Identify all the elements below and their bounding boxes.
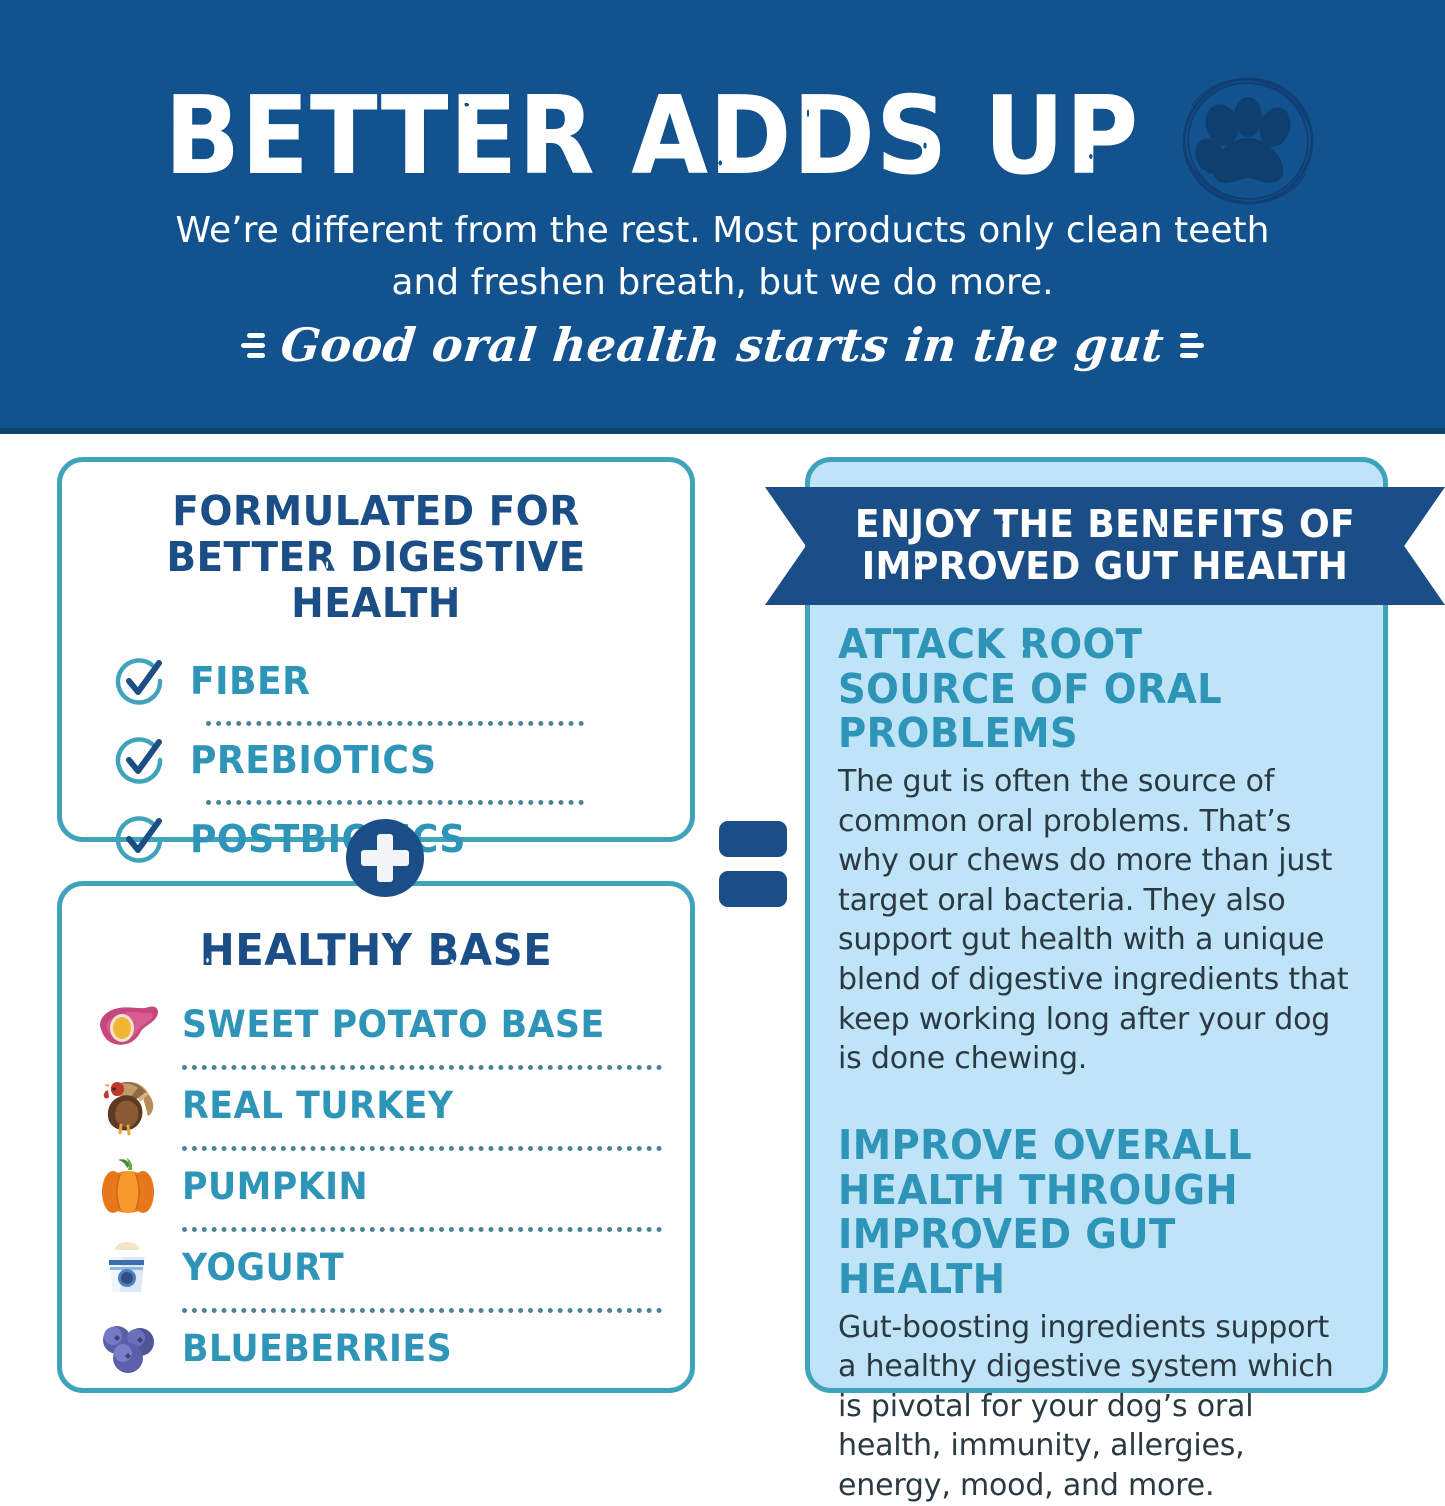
list-item: PUMPKIN bbox=[92, 1151, 656, 1221]
list-item: REAL TURKEY bbox=[92, 1070, 656, 1140]
list-item-label: FIBER bbox=[190, 659, 310, 703]
equals-sign-icon bbox=[719, 821, 787, 907]
hero-header: BETTER ADDS UP We’re different from the … bbox=[0, 0, 1445, 434]
benefit-block: IMPROVE OVERALL HEALTH THROUGH IMPROVED … bbox=[838, 1079, 1355, 1506]
hero-script-text: Good oral health starts in the gut bbox=[278, 318, 1167, 372]
list-item-label: BLUEBERRIES bbox=[182, 1327, 452, 1370]
healthy-base-card: HEALTHY BASE SWEET POTATO BASE bbox=[57, 881, 695, 1393]
list-item-label: REAL TURKEY bbox=[182, 1084, 454, 1127]
check-circle-icon bbox=[114, 812, 168, 866]
formulated-card: FORMULATED FOR BETTER DIGESTIVE HEALTH F… bbox=[57, 457, 695, 842]
list-item-label: PUMPKIN bbox=[182, 1165, 368, 1208]
benefit-heading: IMPROVE OVERALL HEALTH THROUGH IMPROVED … bbox=[838, 1123, 1324, 1302]
pumpkin-icon bbox=[92, 1155, 164, 1217]
check-circle-icon bbox=[114, 733, 168, 787]
dash-flourish-right-icon bbox=[1180, 333, 1206, 358]
list-item-label: POSTBIOTICS bbox=[190, 817, 466, 861]
divider bbox=[206, 794, 584, 805]
hero-title-row: BETTER ADDS UP bbox=[0, 62, 1445, 212]
formulated-card-title: FORMULATED FOR BETTER DIGESTIVE HEALTH bbox=[104, 489, 647, 627]
list-item: PREBIOTICS bbox=[114, 726, 650, 794]
sweet-potato-icon bbox=[92, 993, 164, 1055]
benefits-ribbon: ENJOY THE BENEFITS OF IMPROVED GUT HEALT… bbox=[765, 487, 1445, 605]
paw-print-icon bbox=[1173, 66, 1323, 216]
dash-flourish-left-icon bbox=[239, 333, 265, 358]
divider bbox=[182, 1140, 662, 1151]
benefit-body: Gut-boosting ingredients support a healt… bbox=[838, 1308, 1355, 1506]
divider bbox=[182, 1059, 662, 1070]
blueberries-icon bbox=[92, 1317, 164, 1379]
turkey-icon bbox=[92, 1074, 164, 1136]
benefits-ribbon-title: ENJOY THE BENEFITS OF IMPROVED GUT HEALT… bbox=[782, 504, 1428, 588]
content-area: FORMULATED FOR BETTER DIGESTIVE HEALTH F… bbox=[0, 434, 1445, 1410]
list-item: YOGURT bbox=[92, 1232, 656, 1302]
list-item-label: SWEET POTATO BASE bbox=[182, 1003, 605, 1046]
healthy-base-card-title: HEALTHY BASE bbox=[104, 926, 647, 975]
divider bbox=[206, 715, 584, 726]
list-item: SWEET POTATO BASE bbox=[92, 989, 656, 1059]
list-item-label: YOGURT bbox=[182, 1246, 344, 1289]
list-item: FIBER bbox=[114, 647, 650, 715]
list-item: BLUEBERRIES bbox=[92, 1313, 656, 1383]
ingredients-list: SWEET POTATO BASE bbox=[92, 989, 656, 1383]
yogurt-cup-icon bbox=[92, 1236, 164, 1298]
list-item-label: PREBIOTICS bbox=[190, 738, 437, 782]
check-circle-icon bbox=[114, 654, 168, 708]
benefit-heading: ATTACK ROOT SOURCE OF ORAL PROBLEMS bbox=[838, 622, 1324, 756]
divider bbox=[182, 1302, 662, 1313]
plus-icon bbox=[346, 819, 424, 897]
hero-script-line: Good oral health starts in the gut bbox=[123, 318, 1323, 372]
benefit-body: The gut is often the source of common or… bbox=[838, 762, 1355, 1079]
hero-subtitle: We’re different from the rest. Most prod… bbox=[163, 205, 1283, 309]
divider bbox=[182, 1221, 662, 1232]
page-title: BETTER ADDS UP bbox=[164, 83, 1139, 191]
